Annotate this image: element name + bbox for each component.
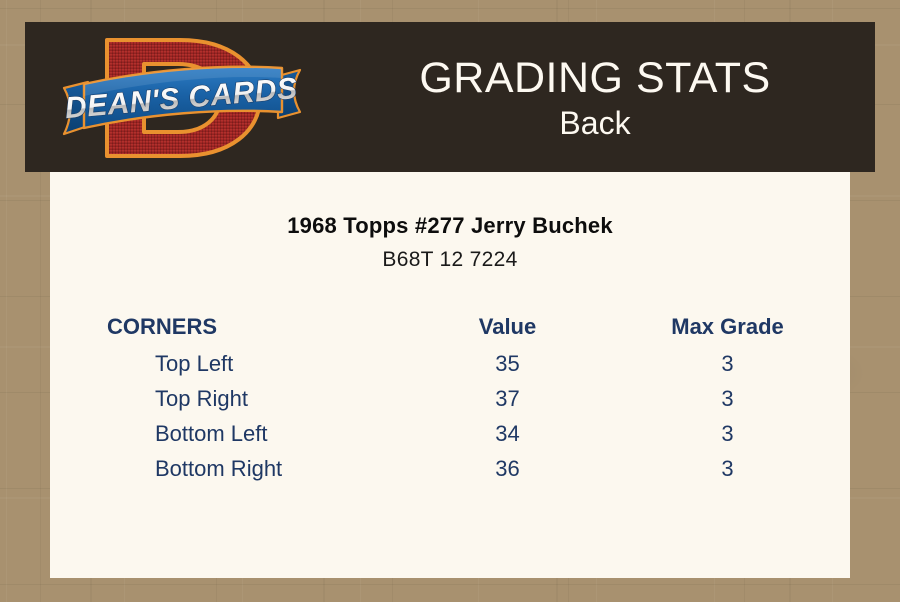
row-value-1: 37 [410, 381, 605, 416]
table-row: Bottom Left343 [50, 416, 850, 451]
card-title: 1968 Topps #277 Jerry Buchek [50, 213, 850, 239]
table-row: Bottom Right363 [50, 451, 850, 486]
row-label-2: Bottom Left [50, 416, 410, 451]
card-code: B68T 12 7224 [50, 248, 850, 272]
table-header: CORNERS Value Max Grade [50, 309, 850, 346]
table-row: Top Right373 [50, 381, 850, 416]
table-body: Top Left353Top Right373Bottom Left343Bot… [50, 346, 850, 486]
row-label-3: Bottom Right [50, 451, 410, 486]
table-header-row: CORNERS Value Max Grade [50, 309, 850, 346]
logo-svg: DEAN'S CARDS [52, 30, 312, 166]
deans-cards-logo[interactable]: DEAN'S CARDS [52, 30, 312, 166]
row-max-grade-1: 3 [605, 381, 850, 416]
row-label-0: Top Left [50, 346, 410, 381]
table-row: Top Left353 [50, 346, 850, 381]
header-titles: GRADING STATS Back [315, 22, 875, 172]
row-value-2: 34 [410, 416, 605, 451]
row-max-grade-0: 3 [605, 346, 850, 381]
row-label-1: Top Right [50, 381, 410, 416]
row-max-grade-3: 3 [605, 451, 850, 486]
column-header-max-grade: Max Grade [605, 309, 850, 346]
grading-stats-table: CORNERS Value Max Grade Top Left353Top R… [50, 309, 850, 486]
column-header-corners: CORNERS [50, 309, 410, 346]
row-max-grade-2: 3 [605, 416, 850, 451]
header-bar: DEAN'S CARDS GRADING STATS Back [25, 22, 875, 172]
column-header-value: Value [410, 309, 605, 346]
page-subtitle: Back [559, 103, 630, 143]
content-panel: 1968 Topps #277 Jerry Buchek B68T 12 722… [50, 172, 850, 578]
row-value-3: 36 [410, 451, 605, 486]
page-title: GRADING STATS [419, 55, 770, 101]
row-value-0: 35 [410, 346, 605, 381]
